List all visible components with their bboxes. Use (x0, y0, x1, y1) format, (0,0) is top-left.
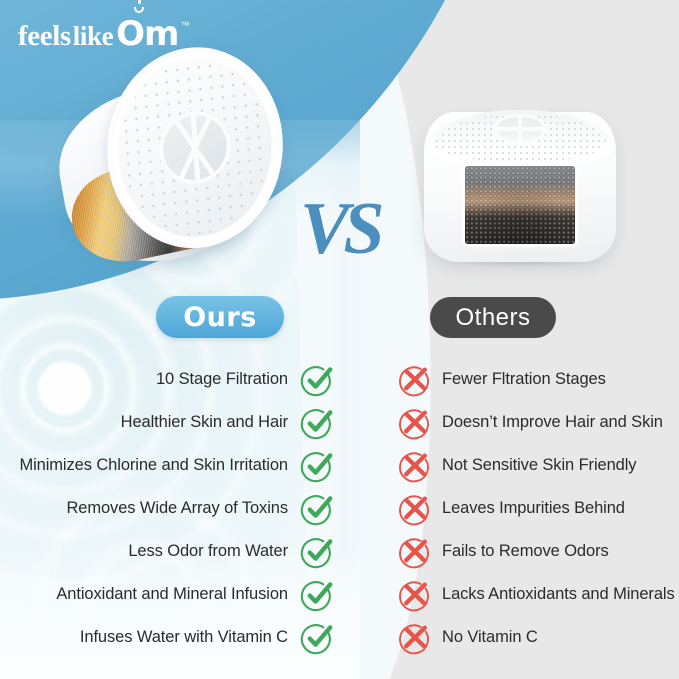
comparison-infographic: feelslikeOm™ VS Ours (0, 0, 679, 679)
others-feature-label: Leaves Impurities Behind (442, 499, 625, 518)
ours-feature-row: Minimizes Chlorine and Skin Irritation (0, 444, 340, 487)
others-feature-label: No Vitamin C (442, 628, 538, 647)
x-circle-icon (398, 363, 432, 397)
others-feature-row: No Vitamin C (398, 616, 679, 659)
x-circle-icon (398, 621, 432, 655)
check-circle-icon (300, 449, 334, 483)
ours-feature-row: 10 Stage Filtration (0, 358, 340, 401)
x-circle-icon (398, 492, 432, 526)
check-circle-icon (300, 492, 334, 526)
ours-feature-label: Infuses Water with Vitamin C (80, 628, 288, 647)
logo-word-feels: feels (18, 20, 71, 53)
ours-feature-list: 10 Stage FiltrationHealthier Skin and Ha… (0, 358, 340, 659)
others-badge: Others (430, 297, 556, 338)
ours-feature-row: Removes Wide Array of Toxins (0, 487, 340, 530)
check-circle-icon (300, 535, 334, 569)
check-circle-icon (300, 578, 334, 612)
others-feature-label: Fails to Remove Odors (442, 542, 609, 561)
ours-feature-label: 10 Stage Filtration (156, 370, 288, 389)
ours-product-hub-spoke (179, 117, 211, 178)
others-feature-row: Fails to Remove Odors (398, 530, 679, 573)
ours-feature-label: Healthier Skin and Hair (121, 413, 288, 432)
x-circle-icon (398, 449, 432, 483)
ours-feature-row: Infuses Water with Vitamin C (0, 616, 340, 659)
others-product-media-window (465, 166, 575, 244)
others-feature-row: Doesn’t Improve Hair and Skin (398, 401, 679, 444)
ours-badge-label: Ours (183, 302, 257, 333)
ours-feature-row: Antioxidant and Mineral Infusion (0, 573, 340, 616)
logo-om-text: Om (116, 14, 178, 54)
ours-feature-label: Minimizes Chlorine and Skin Irritation (19, 456, 288, 475)
others-badge-label: Others (455, 304, 530, 332)
x-circle-icon (398, 535, 432, 569)
others-feature-label: Lacks Antioxidants and Minerals (442, 585, 675, 604)
brand-logo: feelslikeOm™ (18, 14, 189, 54)
check-circle-icon (300, 363, 334, 397)
x-circle-icon (398, 406, 432, 440)
ours-feature-row: Healthier Skin and Hair (0, 401, 340, 444)
ours-feature-label: Removes Wide Array of Toxins (66, 499, 288, 518)
check-circle-icon (300, 621, 334, 655)
ours-feature-label: Antioxidant and Mineral Infusion (56, 585, 288, 604)
others-feature-list: Fewer Fltration StagesDoesn’t Improve Ha… (398, 358, 679, 659)
others-feature-row: Leaves Impurities Behind (398, 487, 679, 530)
ours-feature-row: Less Odor from Water (0, 530, 340, 573)
others-product-window-shading (465, 166, 575, 244)
others-product-image (424, 112, 616, 262)
ours-product-image (40, 34, 304, 300)
others-feature-row: Not Sensitive Skin Friendly (398, 444, 679, 487)
vs-label: VS (300, 192, 379, 266)
others-feature-label: Doesn’t Improve Hair and Skin (442, 413, 663, 432)
others-feature-label: Not Sensitive Skin Friendly (442, 456, 636, 475)
check-circle-icon (300, 406, 334, 440)
others-product-center-hub (493, 114, 547, 144)
logo-dot-accent (138, 0, 142, 4)
x-circle-icon (398, 578, 432, 612)
others-feature-row: Fewer Fltration Stages (398, 358, 679, 401)
ours-badge: Ours (156, 296, 284, 338)
logo-trademark: ™ (181, 20, 190, 30)
others-feature-row: Lacks Antioxidants and Minerals (398, 573, 679, 616)
logo-word-like: like (73, 21, 113, 52)
others-feature-label: Fewer Fltration Stages (442, 370, 606, 389)
logo-word-om: Om (116, 14, 178, 54)
ours-feature-label: Less Odor from Water (128, 542, 288, 561)
